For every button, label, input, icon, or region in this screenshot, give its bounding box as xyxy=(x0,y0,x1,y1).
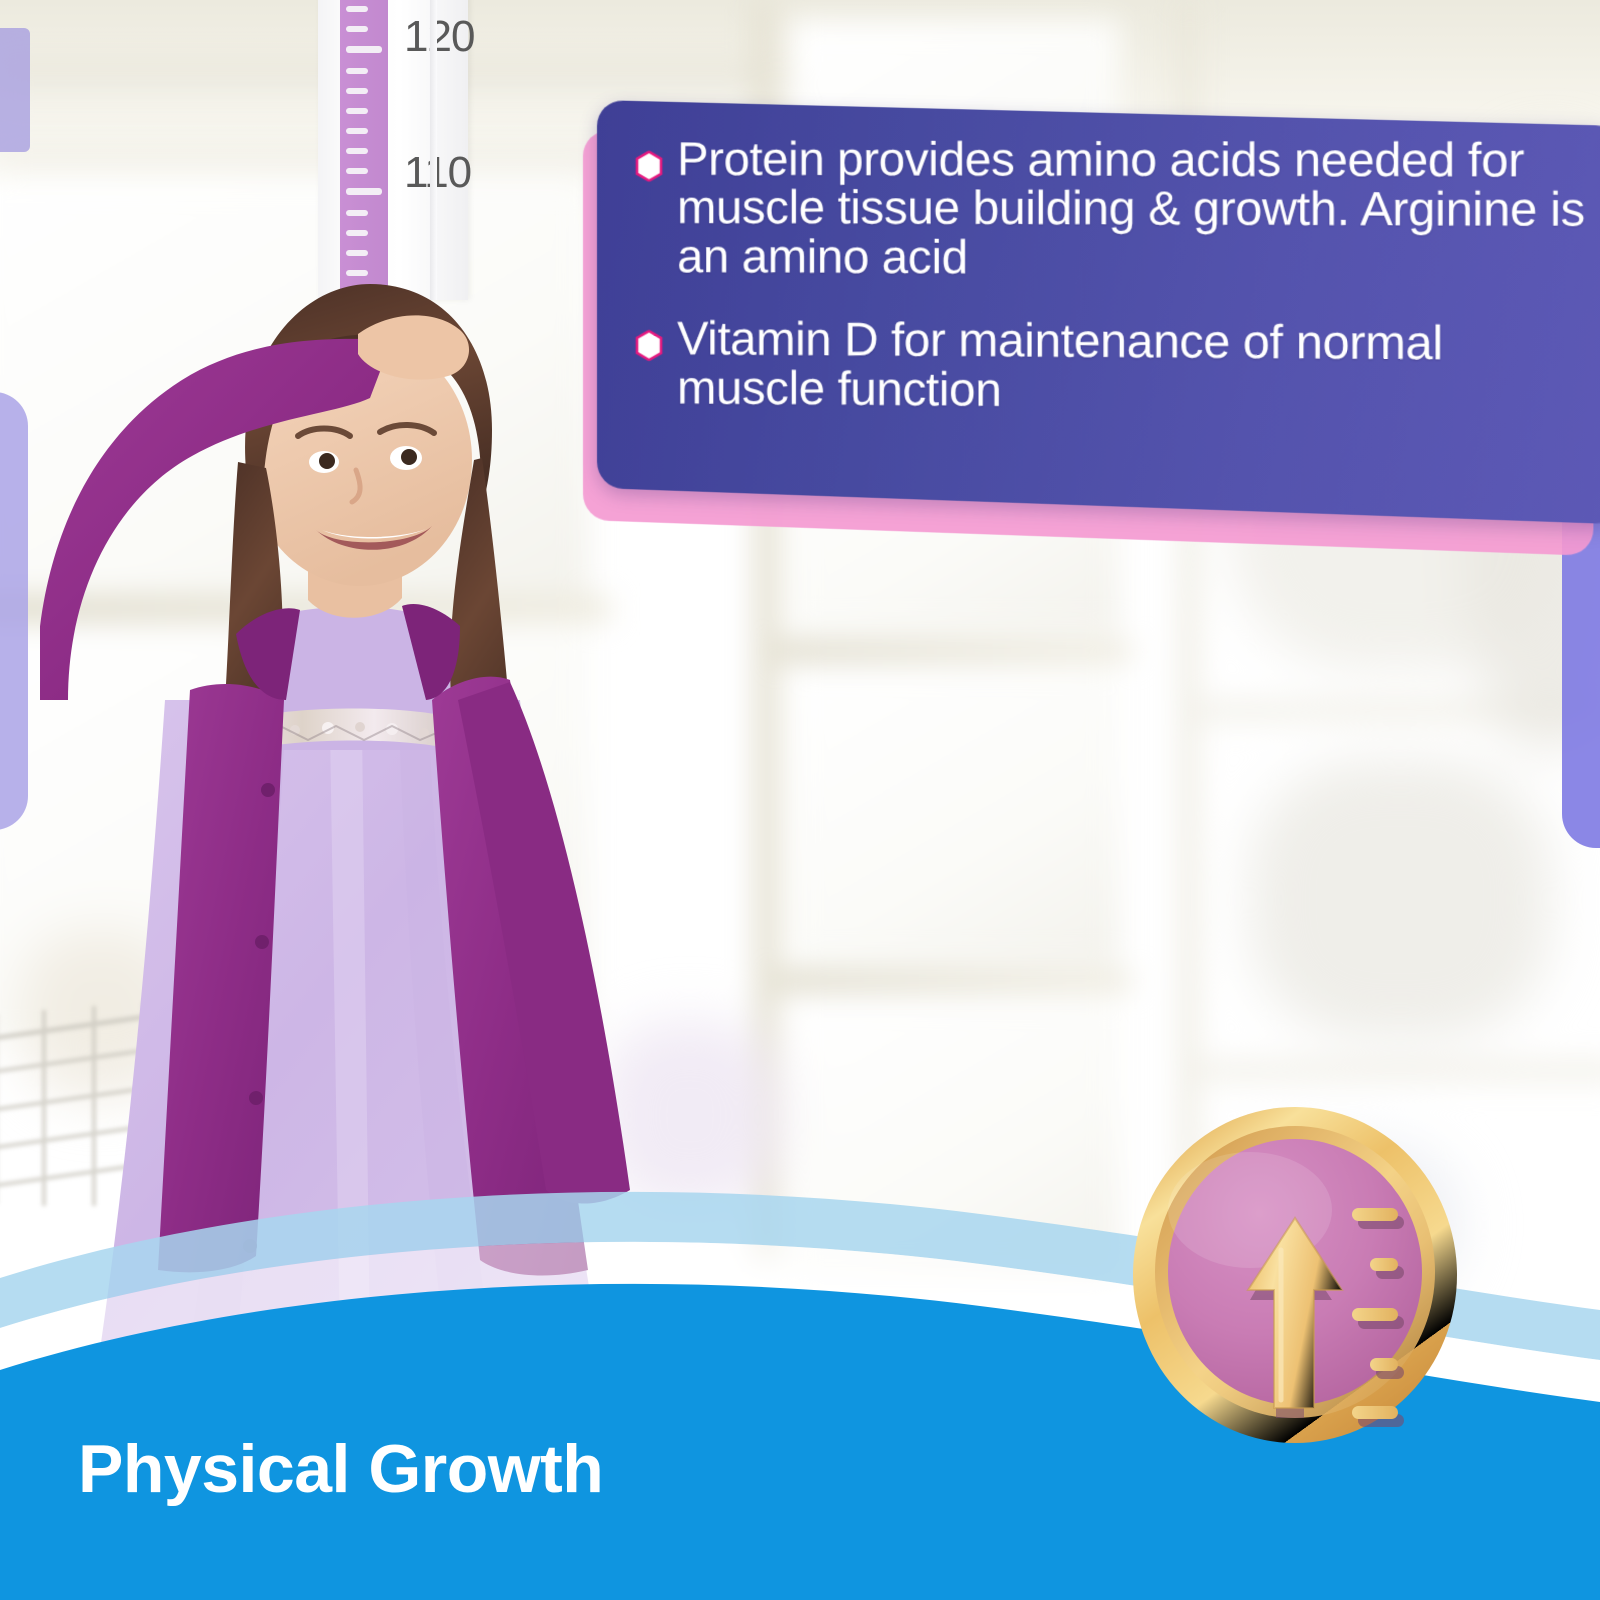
decor-side-tab-left xyxy=(0,392,28,830)
decor-corner-tab-top-left xyxy=(0,28,30,152)
benefit-text-vitamin-d: Vitamin D for maintenance of normal musc… xyxy=(677,314,1596,418)
benefits-callout: Protein provides amino acids needed for … xyxy=(575,100,1585,520)
banner-title: Physical Growth xyxy=(78,1430,603,1508)
poster-canvas: 120 110 xyxy=(0,0,1600,1600)
benefit-item: Vitamin D for maintenance of normal musc… xyxy=(635,314,1596,419)
ruler-label-110: 110 xyxy=(404,148,471,198)
ruler-label-120: 120 xyxy=(404,12,474,62)
growth-arrow-ruler-icon xyxy=(1130,1100,1460,1445)
hexagon-bullet-icon xyxy=(635,330,663,361)
benefit-item: Protein provides amino acids needed for … xyxy=(635,135,1596,285)
benefit-text-protein: Protein provides amino acids needed for … xyxy=(677,135,1596,285)
hexagon-bullet-icon xyxy=(635,151,663,182)
callout-card: Protein provides amino acids needed for … xyxy=(597,100,1600,524)
